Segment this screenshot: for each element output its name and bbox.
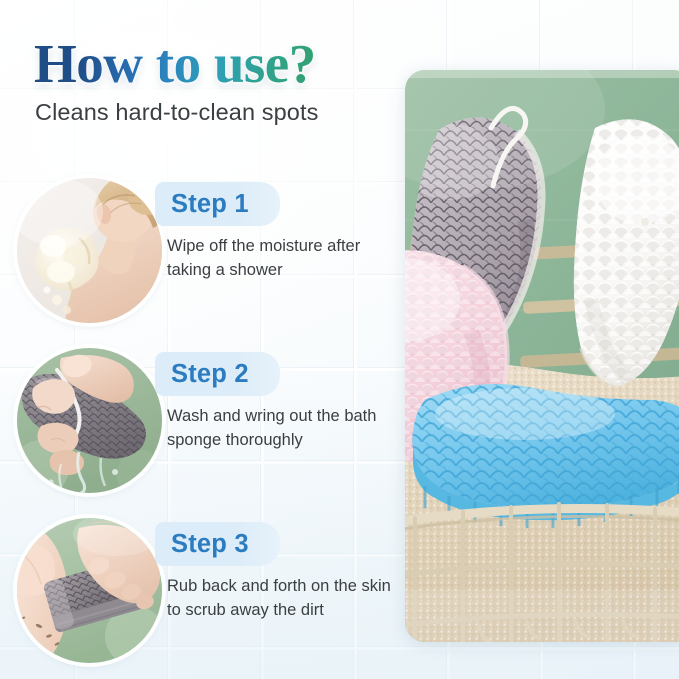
step-1-label: Step 1: [171, 190, 249, 219]
step-3-pill: Step 3: [155, 522, 280, 566]
step-3-photo: [17, 518, 162, 663]
page-subtitle: Cleans hard-to-clean spots: [35, 99, 318, 126]
step-1-pill: Step 1: [155, 182, 280, 226]
hero-product-photo: [405, 70, 679, 642]
step-2-label: Step 2: [171, 360, 249, 389]
step-2-description: Wash and wring out the bath sponge thoro…: [167, 404, 392, 452]
infographic-page: How to use? Cleans hard-to-clean spots: [0, 0, 679, 679]
step-3-description: Rub back and forth on the skin to scrub …: [167, 574, 392, 622]
step-row-2: Step 2 Wash and wring out the bath spong…: [0, 348, 400, 496]
step-row-3: Step 3 Rub back and forth on the skin to…: [0, 518, 400, 666]
page-title: How to use?: [34, 36, 316, 91]
step-row-1: Step 1 Wipe off the moisture after takin…: [0, 178, 400, 326]
step-1-photo: [17, 178, 162, 323]
step-1-description: Wipe off the moisture after taking a sho…: [167, 234, 392, 282]
step-2-photo: [17, 348, 162, 493]
step-3-label: Step 3: [171, 530, 249, 559]
step-2-pill: Step 2: [155, 352, 280, 396]
